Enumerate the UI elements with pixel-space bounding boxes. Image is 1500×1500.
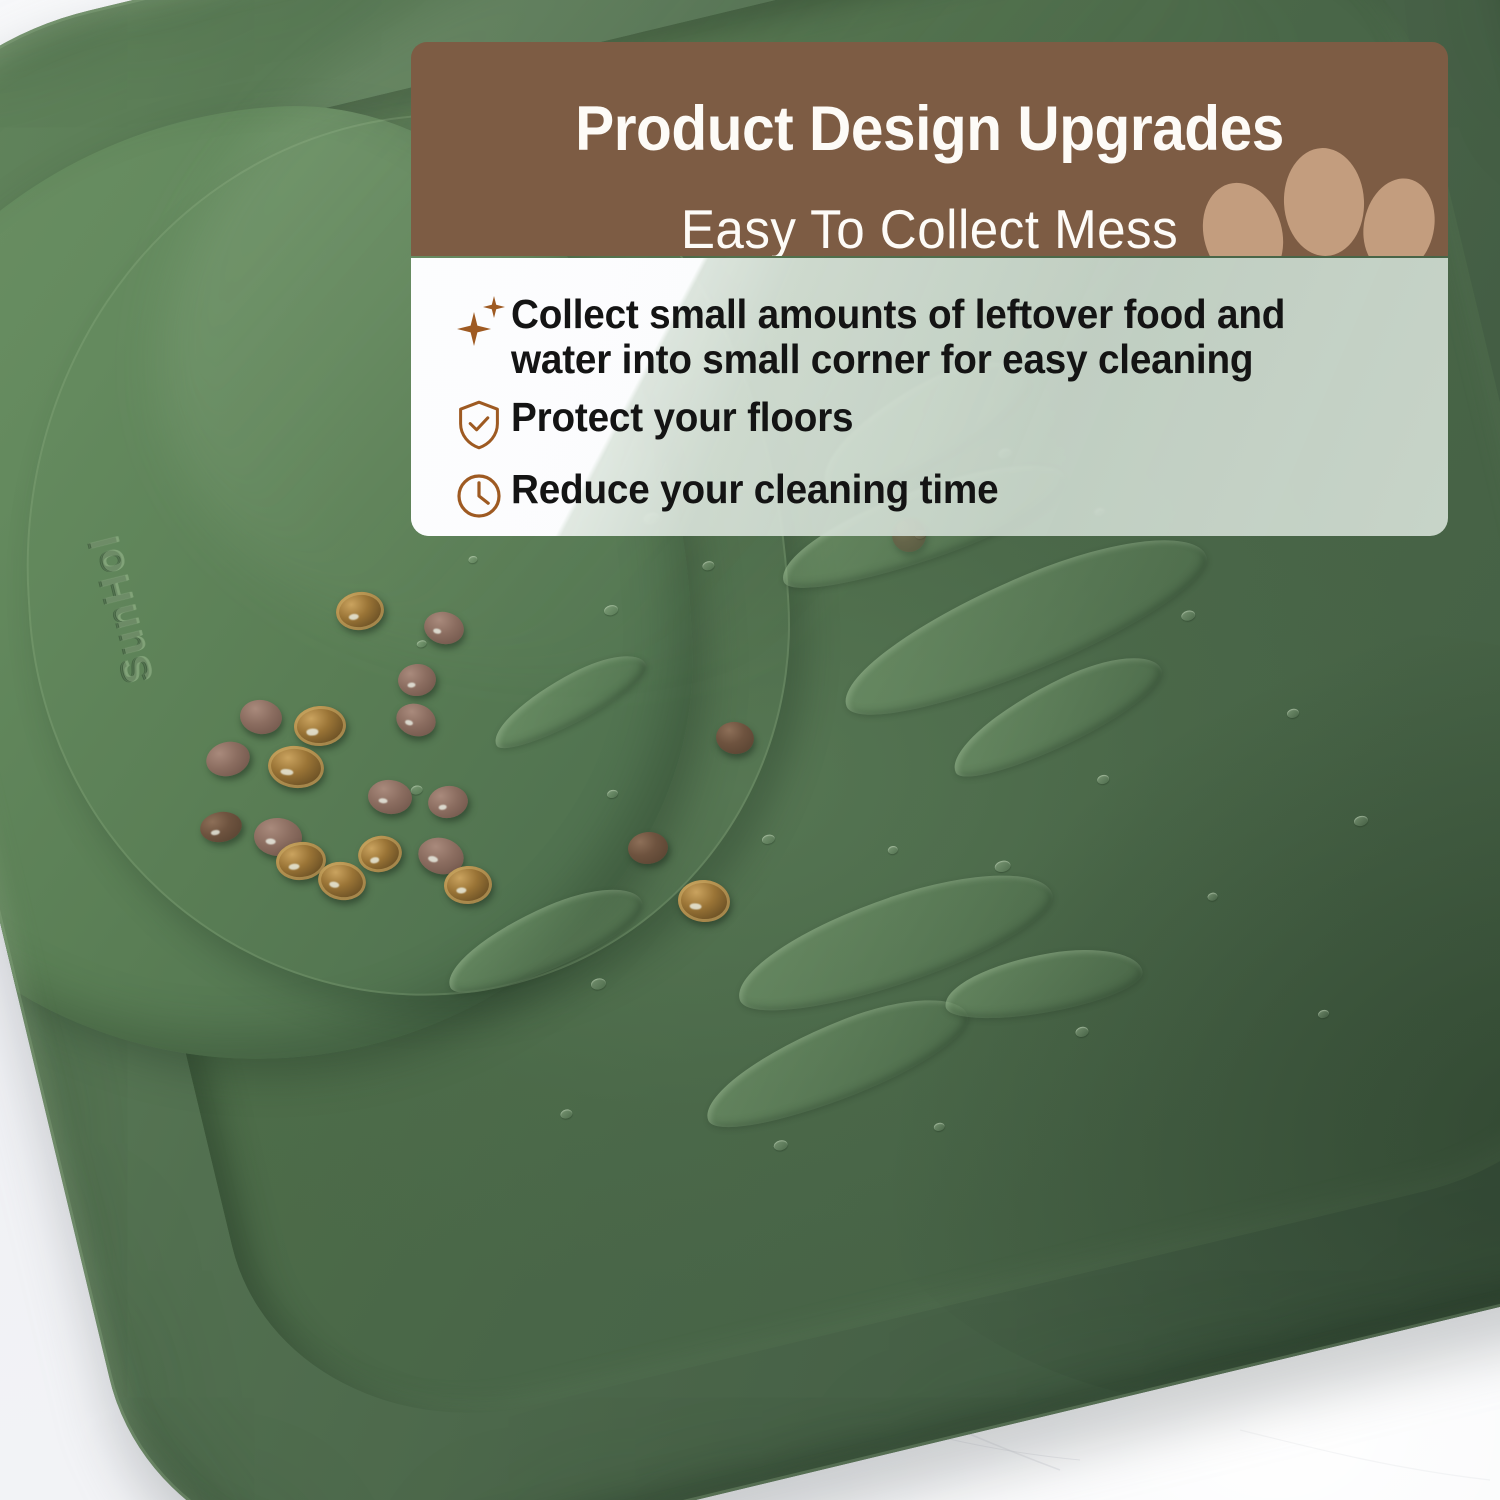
banner-subtitle: Easy To Collect Mess bbox=[447, 202, 1411, 256]
feature-list: Collect small amounts of leftover food a… bbox=[455, 290, 1424, 533]
feature-item: Reduce your cleaning time bbox=[455, 465, 1424, 527]
feature-item: Collect small amounts of leftover food a… bbox=[455, 290, 1424, 383]
sparkle-icon bbox=[455, 296, 511, 352]
banner-title: Product Design Upgrades bbox=[447, 98, 1411, 161]
feature-panel: Collect small amounts of leftover food a… bbox=[411, 258, 1448, 536]
clock-icon bbox=[455, 471, 511, 527]
product-marketing-image: SunHol bbox=[0, 0, 1500, 1500]
feature-text: Collect small amounts of leftover food a… bbox=[511, 290, 1383, 383]
feature-text: Protect your floors bbox=[511, 393, 853, 440]
header-banner: Product Design Upgrades Easy To Collect … bbox=[411, 42, 1448, 256]
shield-check-icon bbox=[455, 399, 511, 455]
feature-item: Protect your floors bbox=[455, 393, 1424, 455]
feature-text: Reduce your cleaning time bbox=[511, 465, 998, 512]
